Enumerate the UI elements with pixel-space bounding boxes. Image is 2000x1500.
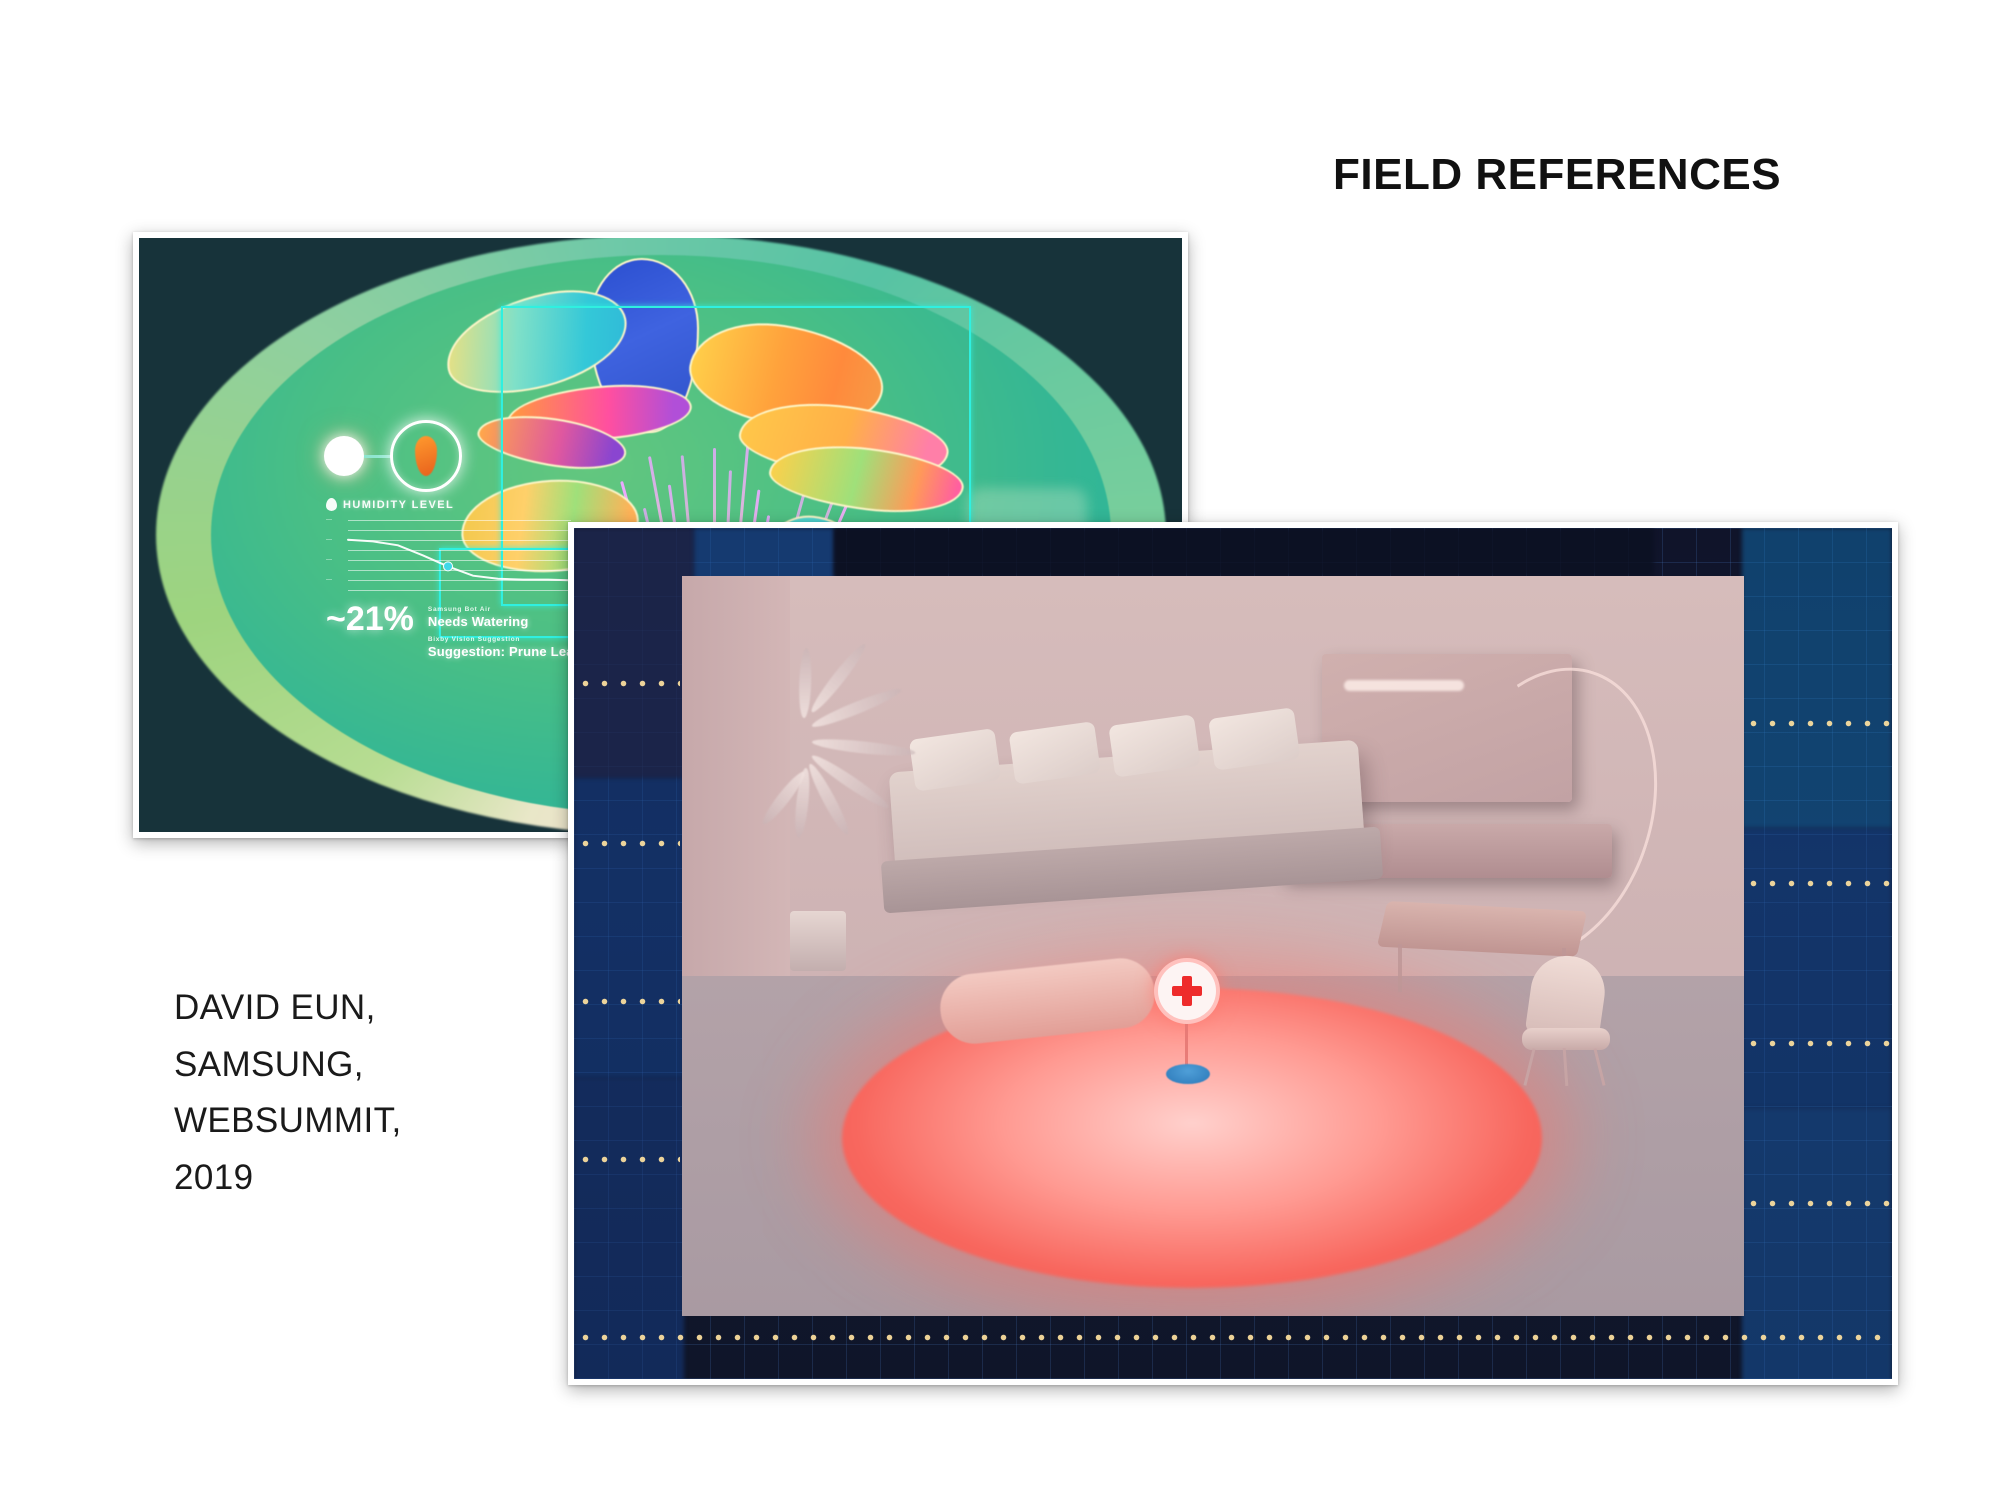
led-dot-strip xyxy=(1744,1040,1890,1047)
medical-alert-pin[interactable] xyxy=(1154,958,1220,1086)
led-dot-strip xyxy=(576,1156,680,1163)
led-panel xyxy=(574,528,694,778)
chair-leg xyxy=(1563,1048,1569,1086)
caption-line-1: DAVID EUN, xyxy=(174,980,402,1037)
sofa-cushion xyxy=(1208,707,1300,770)
chart-ytick: — xyxy=(326,517,332,523)
led-dot-strip-bottom xyxy=(576,1334,1892,1341)
chart-ytick: — xyxy=(326,557,332,563)
led-panel xyxy=(574,778,684,1078)
hud-text-group: Samsung Bot Air Needs Watering Bixby Vis… xyxy=(428,602,578,666)
tv-screen-glint xyxy=(1344,680,1464,691)
led-dot-strip xyxy=(576,680,680,687)
hud-status-dot[interactable] xyxy=(324,436,364,476)
medical-cross-icon xyxy=(1154,958,1220,1024)
chair-leg xyxy=(1523,1048,1535,1086)
plant-frond xyxy=(811,736,916,759)
led-dot-strip xyxy=(576,840,680,847)
caption-line-3: WEBSUMMIT, xyxy=(174,1093,402,1150)
led-dot-strip xyxy=(1744,720,1890,727)
led-panel xyxy=(1742,828,1892,1108)
hud-connector-line xyxy=(364,455,392,458)
chart-ytick: — xyxy=(326,577,332,583)
houseplant xyxy=(752,696,932,956)
chart-ytick: — xyxy=(326,537,332,543)
hud-metric-label: HUMIDITY LEVEL xyxy=(343,499,454,511)
status-caption: Samsung Bot Air xyxy=(428,606,578,613)
led-panel xyxy=(834,528,1654,576)
led-dot-strip xyxy=(576,998,680,1005)
chart-series-line xyxy=(348,518,573,596)
sofa-cushion xyxy=(1108,714,1200,777)
status-value: Needs Watering xyxy=(428,614,578,629)
table-leg xyxy=(1398,944,1402,992)
led-panel xyxy=(1742,528,1892,828)
humidity-line-chart: — — — — xyxy=(326,518,571,596)
hud-metric-label-row: HUMIDITY LEVEL xyxy=(326,498,644,511)
led-dot-strip xyxy=(1744,1200,1890,1207)
stage-scene xyxy=(574,528,1892,1379)
pin-base xyxy=(1166,1064,1210,1084)
cross-glyph xyxy=(1172,976,1202,1006)
advice-caption: Bixby Vision Suggestion xyxy=(428,636,578,643)
side-chair xyxy=(1512,956,1622,1086)
chair-leg xyxy=(1593,1048,1605,1086)
rendered-living-room xyxy=(682,576,1744,1316)
caption-line-4: 2019 xyxy=(174,1150,402,1207)
advice-value: Suggestion: Prune Leaf xyxy=(428,644,578,659)
water-drop-icon xyxy=(326,498,337,511)
leaf-glyph xyxy=(415,436,437,476)
sofa-cushion xyxy=(1009,721,1101,784)
page-title: FIELD REFERENCES xyxy=(1333,150,1781,200)
led-dot-strip xyxy=(1744,880,1890,887)
image-websummit-stage xyxy=(568,522,1898,1385)
caption-line-2: SAMSUNG, xyxy=(174,1037,402,1094)
planter-pot xyxy=(790,911,846,971)
leaf-icon[interactable] xyxy=(390,420,462,492)
slide-caption: DAVID EUN, SAMSUNG, WEBSUMMIT, 2019 xyxy=(174,980,402,1207)
humidity-value: ~21% xyxy=(326,602,414,636)
slide-canvas: FIELD REFERENCES xyxy=(0,0,2000,1500)
hud-indicator-group xyxy=(324,418,644,494)
chair-seat xyxy=(1522,1028,1610,1050)
